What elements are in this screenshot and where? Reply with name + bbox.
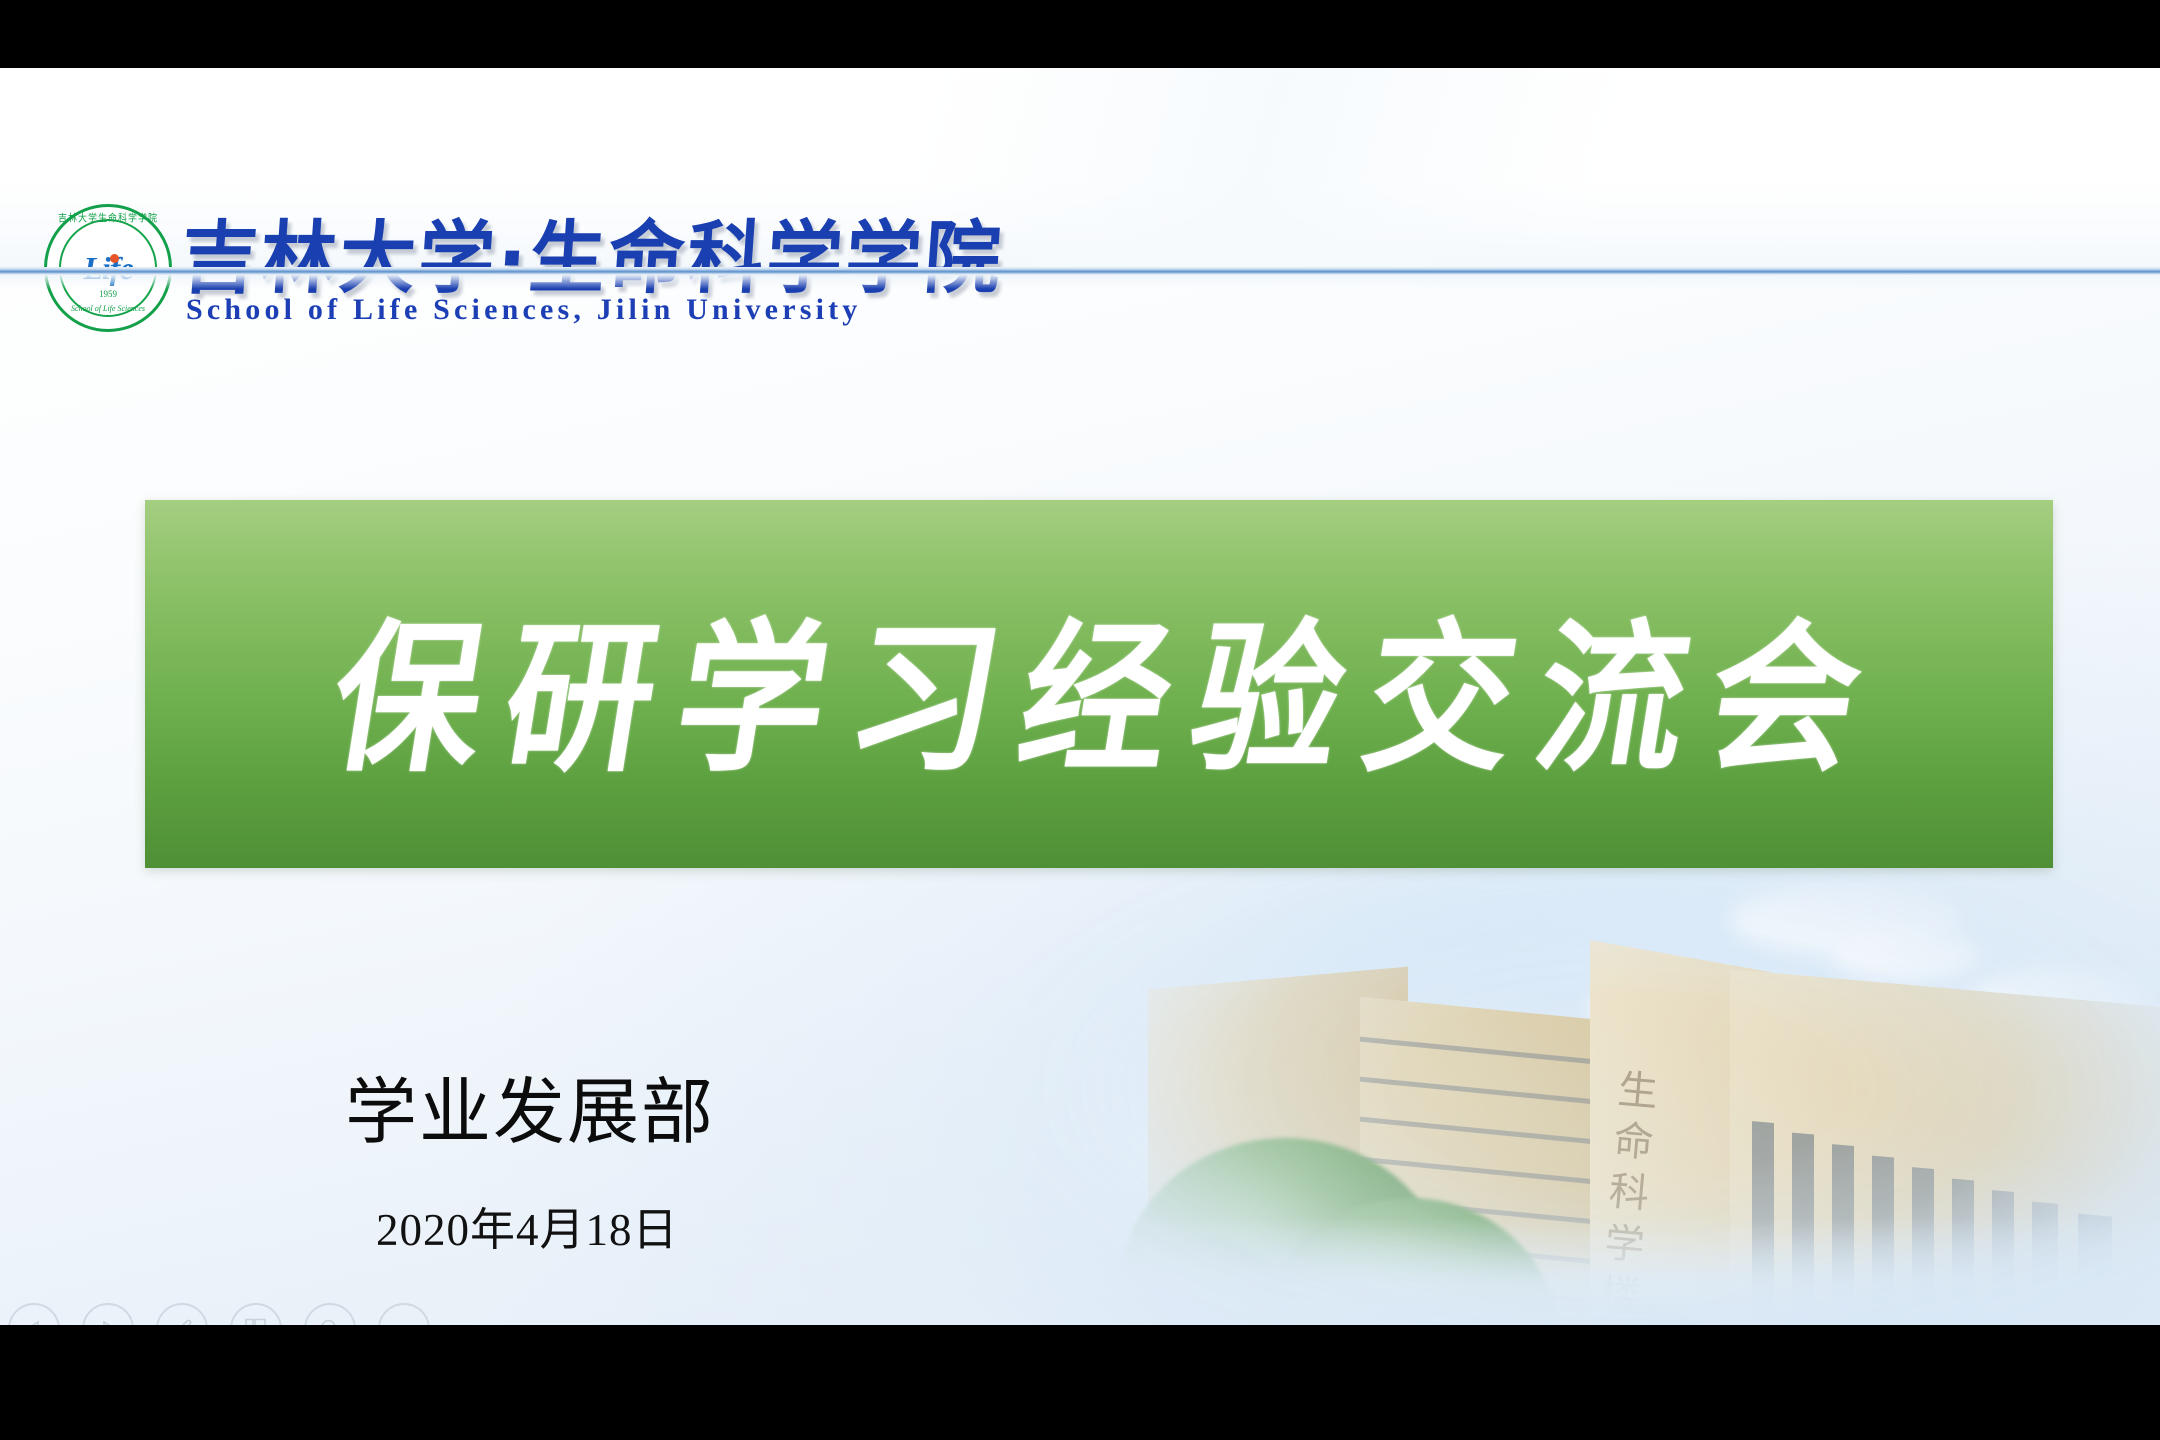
department-name: 学业发展部 <box>345 1053 715 1158</box>
letterbox-top-bar <box>0 0 2160 68</box>
photo-haze-overlay <box>1030 838 2160 1325</box>
presentation-slide: 吉林大学生命科学学院 Life 1959 School of Life Scie… <box>0 68 2160 1325</box>
slide-title: 保研学习经验交流会 <box>113 482 2085 887</box>
header-divider-fade <box>0 275 2160 289</box>
header-title-english: School of Life Sciences, Jilin Universit… <box>186 293 862 327</box>
next-slide-button[interactable] <box>82 1303 134 1325</box>
slide-overview-button[interactable] <box>230 1303 282 1325</box>
header-divider-rule <box>0 267 2160 275</box>
slideshow-toolbar <box>8 1303 430 1325</box>
seal-english-text: School of Life Sciences <box>44 304 172 313</box>
zoom-icon <box>318 1317 342 1325</box>
seal-accent-dot-icon <box>110 254 119 263</box>
more-options-button[interactable] <box>378 1303 430 1325</box>
title-banner: 保研学习经验交流会 <box>145 500 2053 868</box>
zoom-button[interactable] <box>304 1303 356 1325</box>
header-title-chinese: 吉林大学·生命科学学院 <box>178 194 1008 308</box>
slide-overview-icon <box>243 1316 269 1325</box>
presentation-date: 2020年4月18日 <box>376 1193 679 1258</box>
letterbox-bottom-bar <box>0 1325 2160 1440</box>
seal-chinese-text: 吉林大学生命科学学院 <box>44 210 172 225</box>
pen-icon <box>169 1316 195 1325</box>
life-sciences-building-photo: 生命科学楼 <box>1030 838 2160 1325</box>
previous-slide-button[interactable] <box>8 1303 60 1325</box>
pen-tool-button[interactable] <box>156 1303 208 1325</box>
slide-header: 吉林大学生命科学学院 Life 1959 School of Life Scie… <box>0 68 2160 271</box>
seal-founding-year: 1959 <box>44 289 172 299</box>
